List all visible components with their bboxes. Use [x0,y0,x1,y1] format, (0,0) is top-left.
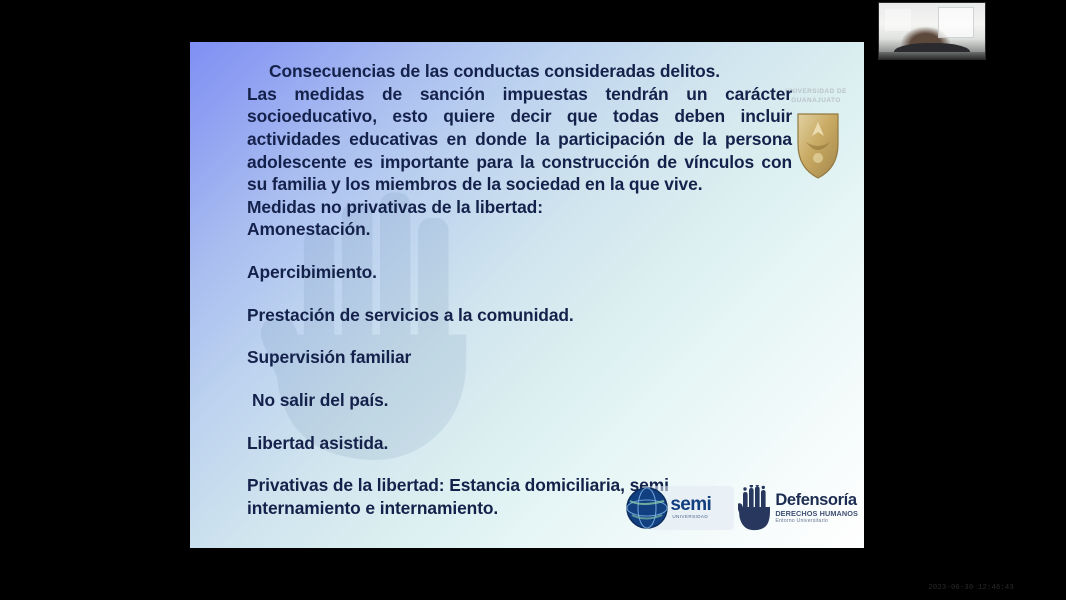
desk-edge [879,52,985,59]
video-conference-stage: UNIVERSIDAD DE GUANAJUATO Consecuencias … [0,0,1066,600]
list-item: Supervisión familiar [247,346,792,369]
slide-closing-line-2: internamiento e internamiento. [247,497,792,520]
slide-paragraph: Las medidas de sanción impuestas tendrán… [247,83,792,196]
background-window-right [938,7,974,37]
shared-presentation-slide[interactable]: UNIVERSIDAD DE GUANAJUATO Consecuencias … [190,42,864,548]
list-item: Libertad asistida. [247,432,792,455]
slide-heading: Consecuencias de las conductas considera… [247,60,792,83]
slide-section-label: Medidas no privativas de la libertad: [247,196,792,219]
webcam-video-feed [879,3,985,59]
list-item: Apercibimiento. [247,261,792,284]
background-window-left [885,9,910,31]
slide-closing-line-1: Privativas de la libertad: Estancia domi… [247,474,792,497]
list-item: Prestación de servicios a la comunidad. [247,304,792,327]
webcam-thumbnail[interactable] [878,2,986,60]
slide-text-body: Consecuencias de las conductas considera… [190,42,864,548]
list-item: Amonestación. [247,218,792,241]
recording-timestamp: 2023-06-30 12:46:43 [928,584,1014,592]
list-item: No salir del país. [247,389,792,412]
